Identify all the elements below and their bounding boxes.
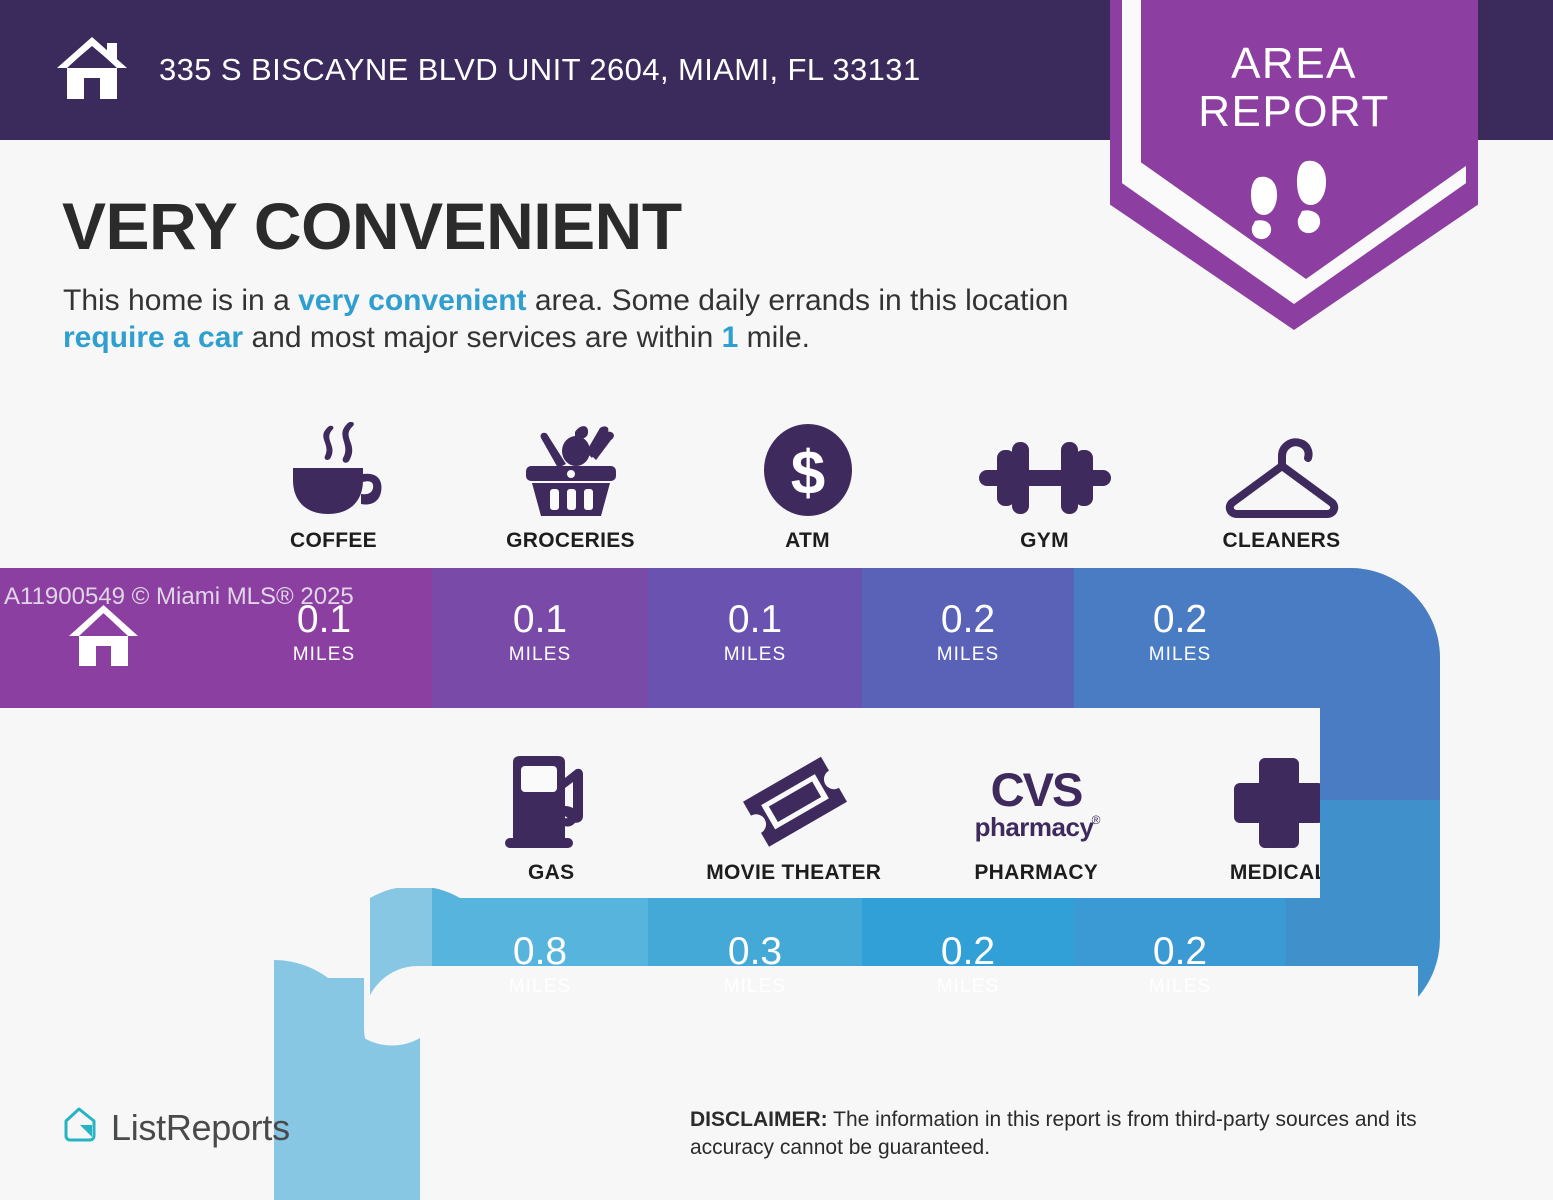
dumbbell-icon: [979, 418, 1111, 518]
svg-text:$: $: [790, 439, 824, 508]
amenity-label: ATM: [785, 529, 830, 553]
banner-title-line1: AREA: [1110, 40, 1478, 88]
area-report-page: 335 S BISCAYNE BLVD UNIT 2604, MIAMI, FL…: [0, 0, 1553, 1200]
summary-part2: area. Some daily errands in this locatio…: [527, 284, 1069, 317]
distance-value: 0.2: [862, 600, 1074, 639]
summary-part4: mile.: [738, 321, 810, 354]
hanger-icon: [1223, 418, 1341, 518]
banner-title: AREA REPORT: [1110, 40, 1478, 135]
listreports-logo[interactable]: ListReports: [60, 1105, 290, 1150]
disclaimer: DISCLAIMER: The information in this repo…: [690, 1106, 1500, 1163]
distance-value: 0.2: [1074, 600, 1286, 639]
distance-medical: 0.2 MILES: [1074, 932, 1286, 998]
distance-unit: MILES: [862, 976, 1074, 998]
property-address: 335 S BISCAYNE BLVD UNIT 2604, MIAMI, FL…: [159, 52, 921, 88]
distance-unit: MILES: [862, 644, 1074, 666]
distance-gym: 0.2 MILES: [862, 600, 1074, 666]
distance-movie-theater: 0.3 MILES: [648, 932, 862, 998]
distance-value: 0.2: [862, 932, 1074, 971]
dollar-circle-icon: $: [762, 418, 854, 518]
banner-title-line2: REPORT: [1110, 88, 1478, 136]
summary-highlight-convenience: very convenient: [298, 284, 526, 317]
amenity-gym: GYM: [926, 418, 1163, 553]
amenity-label: COFFEE: [290, 529, 377, 553]
grocery-basket-icon: [516, 418, 626, 518]
amenity-label: GYM: [1020, 529, 1069, 553]
summary-paragraph: This home is in a very convenient area. …: [63, 283, 1103, 356]
summary-part3: and most major services are within: [243, 321, 722, 354]
summary-part1: This home is in a: [63, 284, 298, 317]
disclaimer-label: DISCLAIMER:: [690, 1108, 828, 1131]
amenity-atm: $ ATM: [689, 418, 926, 553]
distance-unit: MILES: [1074, 644, 1286, 666]
amenity-groceries: GROCERIES: [452, 418, 689, 553]
distance-value: 0.3: [648, 932, 862, 971]
summary-highlight-miles: 1: [722, 321, 739, 354]
amenity-icon-row-1: COFFEE: [215, 418, 1400, 553]
listreports-logo-icon: [60, 1105, 100, 1150]
distance-value: 0.8: [432, 932, 648, 971]
home-icon: [55, 35, 129, 106]
distance-value: 0.1: [432, 600, 648, 639]
summary-highlight-car: require a car: [63, 321, 243, 354]
distance-pharmacy: 0.2 MILES: [862, 932, 1074, 998]
page-title: VERY CONVENIENT: [62, 188, 682, 264]
distance-value: 0.2: [1074, 932, 1286, 971]
distance-gas: 0.8 MILES: [432, 932, 648, 998]
amenity-cleaners: CLEANERS: [1163, 418, 1400, 553]
mls-watermark: A11900549 © Miami MLS® 2025: [4, 583, 354, 611]
coffee-cup-icon: [285, 418, 383, 518]
distance-unit: MILES: [648, 976, 862, 998]
distance-atm: 0.1 MILES: [648, 600, 862, 666]
distance-unit: MILES: [432, 644, 648, 666]
distance-unit: MILES: [432, 976, 648, 998]
amenity-coffee: COFFEE: [215, 418, 452, 553]
distance-unit: MILES: [648, 644, 862, 666]
distance-unit: MILES: [216, 644, 432, 666]
distance-cleaners: 0.2 MILES: [1074, 600, 1286, 666]
distance-unit: MILES: [1074, 976, 1286, 998]
listreports-logo-text: ListReports: [111, 1107, 290, 1149]
distance-groceries: 0.1 MILES: [432, 600, 648, 666]
distance-value: 0.1: [648, 600, 862, 639]
amenity-label: GROCERIES: [506, 529, 635, 553]
amenity-label: CLEANERS: [1223, 529, 1341, 553]
